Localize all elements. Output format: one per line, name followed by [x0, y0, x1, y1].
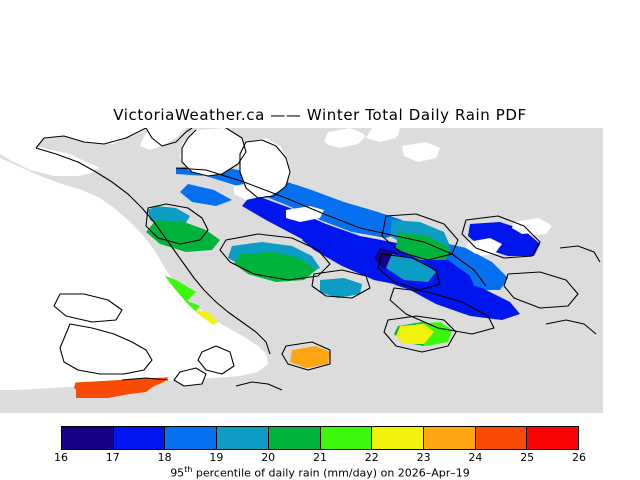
colorbar-segment-18-19[interactable]	[165, 427, 217, 449]
colorbar-tick-labels: 16 17 18 19 20 21 22 23 24 25 26	[61, 451, 579, 465]
colorbar-tick-20: 20	[261, 451, 275, 464]
colorbar-caption: 95th percentile of daily rain (mm/day) o…	[0, 465, 640, 480]
colorbar-segment-16-17[interactable]	[62, 427, 114, 449]
colorbar-segment-19-20[interactable]	[217, 427, 269, 449]
colorbar-segment-22-23[interactable]	[372, 427, 424, 449]
caption-percentile-number: 95	[170, 467, 184, 480]
colorbar-area: 16 17 18 19 20 21 22 23 24 25 26 95th pe…	[0, 420, 640, 480]
colorbar-segment-17-18[interactable]	[114, 427, 166, 449]
map-panel[interactable]	[0, 128, 640, 413]
colorbar-tick-19: 19	[209, 451, 223, 464]
caption-text: percentile of daily rain (mm/day) on 202…	[192, 467, 469, 480]
weather-map-figure: VictoriaWeather.ca —— Winter Total Daily…	[0, 0, 640, 480]
colorbar-tick-26: 26	[572, 451, 586, 464]
contour-map[interactable]	[0, 128, 640, 413]
colorbar-segment-23-24[interactable]	[424, 427, 476, 449]
colorbar-tick-24: 24	[468, 451, 482, 464]
colorbar-segment-25-26[interactable]	[527, 427, 578, 449]
colorbar-tick-18: 18	[158, 451, 172, 464]
colorbar-segment-24-25[interactable]	[476, 427, 528, 449]
panel-right-margin	[603, 128, 640, 413]
figure-title: VictoriaWeather.ca —— Winter Total Daily…	[0, 106, 640, 124]
colorbar-tick-23: 23	[417, 451, 431, 464]
colorbar-tick-21: 21	[313, 451, 327, 464]
colorbar-segment-20-21[interactable]	[269, 427, 321, 449]
colorbar-segment-21-22[interactable]	[321, 427, 373, 449]
colorbar[interactable]	[61, 426, 579, 450]
colorbar-tick-16: 16	[54, 451, 68, 464]
colorbar-tick-25: 25	[520, 451, 534, 464]
colorbar-tick-22: 22	[365, 451, 379, 464]
colorbar-tick-17: 17	[106, 451, 120, 464]
